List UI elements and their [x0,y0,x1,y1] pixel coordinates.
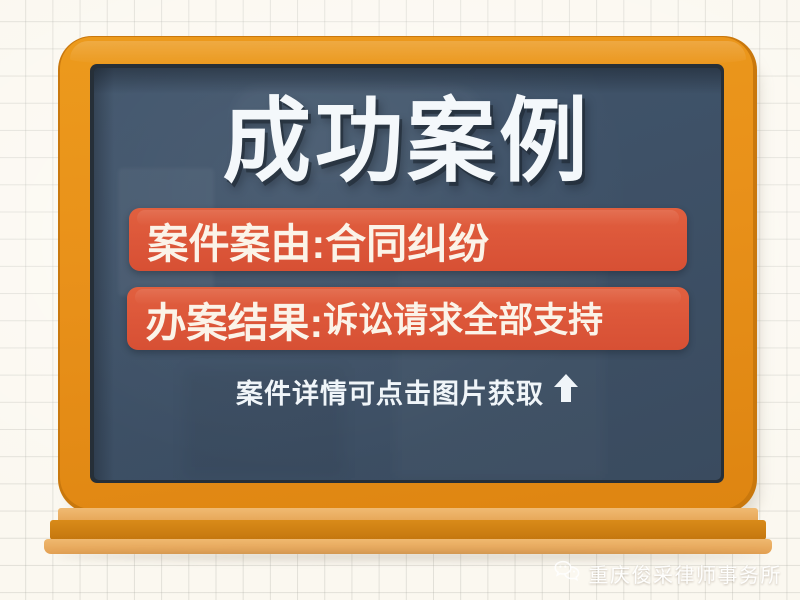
blackboard: 成功案例 案件案由: 合同纠纷 办案结果: 诉讼请求全部支持 案件详情可点击图片… [58,36,758,556]
case-cause-banner: 案件案由: 合同纠纷 [129,208,687,271]
board-content: 成功案例 案件案由: 合同纠纷 办案结果: 诉讼请求全部支持 案件详情可点击图片… [94,68,721,480]
case-cause-label: 案件案由: [148,210,326,270]
chalkboard-surface: 成功案例 案件案由: 合同纠纷 办案结果: 诉讼请求全部支持 案件详情可点击图片… [94,68,721,480]
watermark-text: 重庆俊采律师事务所 [589,559,783,588]
footnote-hint[interactable]: 案件详情可点击图片获取 [236,372,579,411]
arrow-up-icon [553,373,579,410]
chalk-ledge [44,508,772,560]
ledge-middle-band [50,520,766,540]
footnote-text: 案件详情可点击图片获取 [236,372,544,411]
watermark: 重庆俊采律师事务所 [554,559,783,588]
case-result-banner: 办案结果: 诉讼请求全部支持 [127,287,689,350]
case-result-value: 诉讼请求全部支持 [323,292,603,345]
page-title: 成功案例 [223,98,592,186]
case-cause-value: 合同纠纷 [325,210,489,270]
wechat-icon [554,560,580,587]
case-result-label: 办案结果: [146,289,324,349]
